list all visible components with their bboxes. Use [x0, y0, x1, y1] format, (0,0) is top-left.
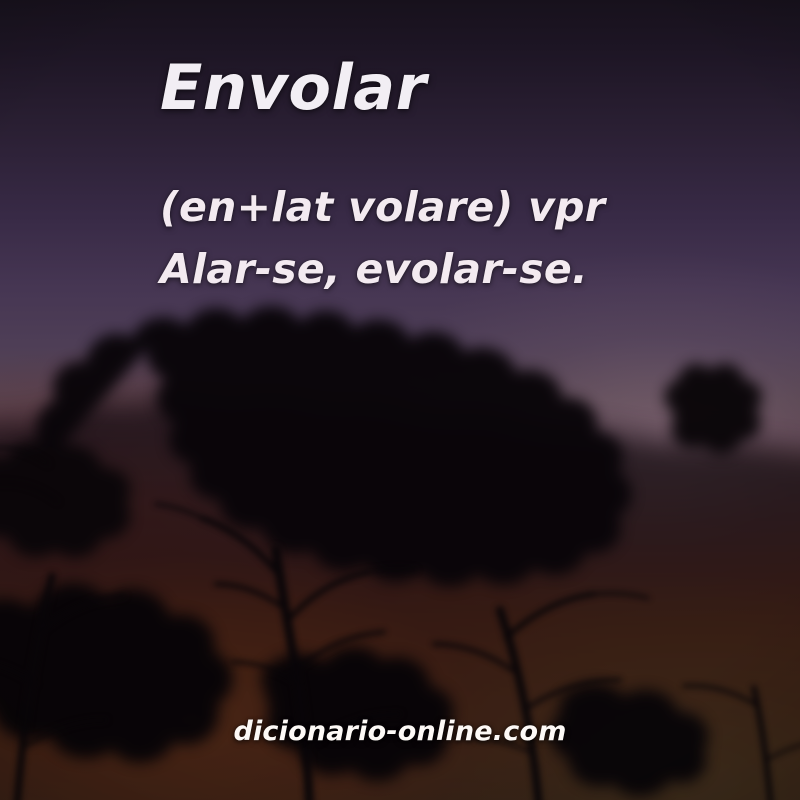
page-title: Envolar — [160, 52, 427, 123]
definition-block: (en+lat volare) vpr Alar-se, evolar-se. — [160, 176, 680, 301]
dictionary-entry-card: Envolar (en+lat volare) vpr Alar-se, evo… — [0, 0, 800, 800]
definition-line-etymology: (en+lat volare) vpr — [160, 176, 680, 238]
entry-text-layer: Envolar (en+lat volare) vpr Alar-se, evo… — [0, 0, 800, 800]
site-credit-watermark: dicionario-online.com — [0, 716, 800, 747]
definition-line-meaning: Alar-se, evolar-se. — [160, 238, 680, 300]
